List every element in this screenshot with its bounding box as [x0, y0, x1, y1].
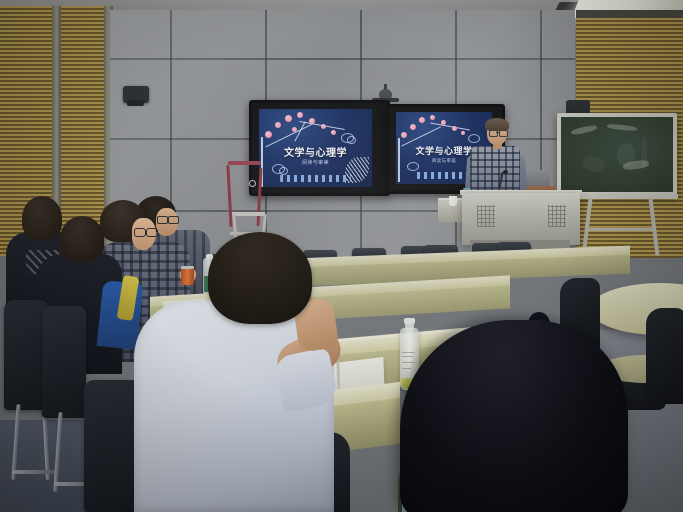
chair-crossbar-1 — [12, 470, 56, 474]
presenter-glasses-bridge — [496, 132, 499, 133]
student-blue-yellow-jacket-hair — [60, 216, 104, 262]
step-ladder-step-upper — [232, 212, 265, 216]
student-plaid-glasses-left-lens — [134, 228, 146, 237]
paper-cup[interactable] — [449, 196, 457, 206]
drink-can-lid — [181, 266, 194, 269]
step-ladder-hook — [249, 180, 256, 187]
easel-crossbar — [588, 228, 653, 231]
slide-left: 文学与心理学 阅读与审美 — [259, 109, 372, 187]
slide-title-left: 文学与心理学 — [259, 144, 372, 159]
chalkboard-surface[interactable] — [561, 117, 673, 192]
step-ladder-handrail — [228, 161, 261, 165]
presenter-glasses-right-lens — [499, 130, 508, 137]
student-dark-hoodie-hair — [22, 196, 62, 240]
chair-right-2[interactable] — [646, 308, 683, 404]
podium-speaker-grille-left — [477, 205, 495, 227]
water-bottle-front-cap — [404, 318, 415, 324]
student-long-black-hair — [400, 320, 628, 512]
student-plaid-glasses-right-lens — [146, 228, 158, 237]
left-display[interactable]: 文学与心理学 阅读与审美 — [249, 100, 390, 196]
wall-speaker-left-bracket — [127, 100, 144, 106]
student-back-row-glasses-right-lens — [168, 216, 179, 224]
student-white-tshirt-hair — [208, 232, 312, 324]
student-back-row-glasses-left-lens — [157, 216, 168, 224]
presenter-torso — [470, 146, 520, 196]
microphone-icon[interactable] — [503, 170, 508, 174]
drink-can[interactable] — [181, 268, 194, 285]
slide-subtitle-left: 阅读与审美 — [259, 159, 372, 166]
podium-speaker-grille-right — [548, 205, 566, 227]
chair-foreground-2[interactable] — [42, 306, 86, 418]
lecture-hall-scene: 文学与心理学 阅读与审美 文学与心理学 阅读与审美 — [0, 0, 683, 512]
